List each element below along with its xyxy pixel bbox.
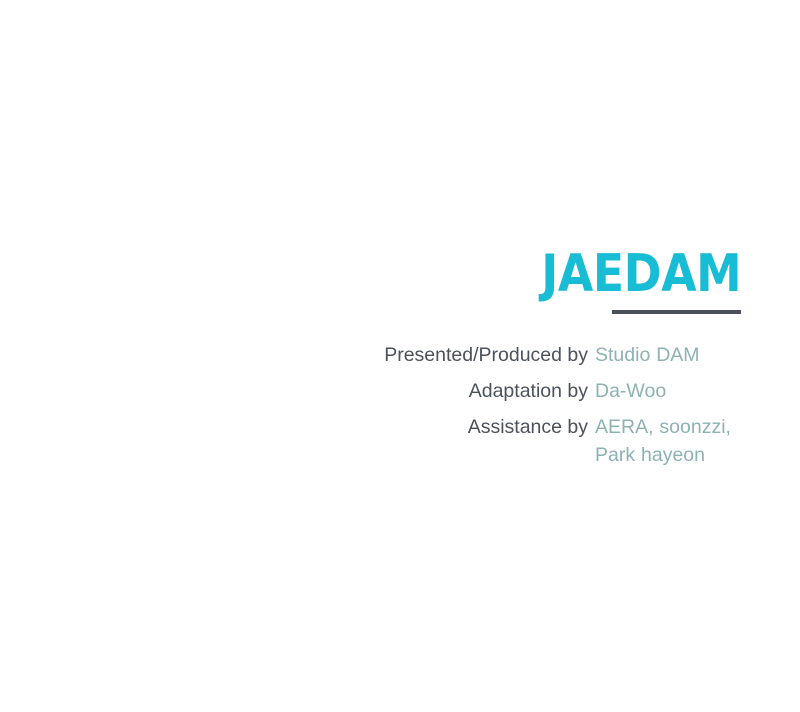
credit-value-assistance: AERA, soonzzi, Park hayeon	[595, 413, 755, 469]
credits-page: JAEDAM Presented/Produced by Studio DAM …	[0, 0, 800, 712]
credit-label-assistance: Assistance by	[0, 413, 588, 441]
credit-value-adaptation: Da-Woo	[595, 377, 666, 405]
credit-label-presented-produced: Presented/Produced by	[0, 341, 588, 369]
brand-underline-rule	[612, 310, 741, 314]
credit-value-presented-produced: Studio DAM	[595, 341, 700, 369]
credit-label-adaptation: Adaptation by	[0, 377, 588, 405]
brand-logo-block: JAEDAM	[0, 248, 741, 314]
credit-row: Assistance by AERA, soonzzi, Park hayeon	[0, 413, 800, 469]
jaedam-wordmark: JAEDAM	[541, 248, 741, 300]
credit-row: Adaptation by Da-Woo	[0, 377, 800, 405]
credit-row: Presented/Produced by Studio DAM	[0, 341, 800, 369]
credits-list: Presented/Produced by Studio DAM Adaptat…	[0, 341, 800, 469]
